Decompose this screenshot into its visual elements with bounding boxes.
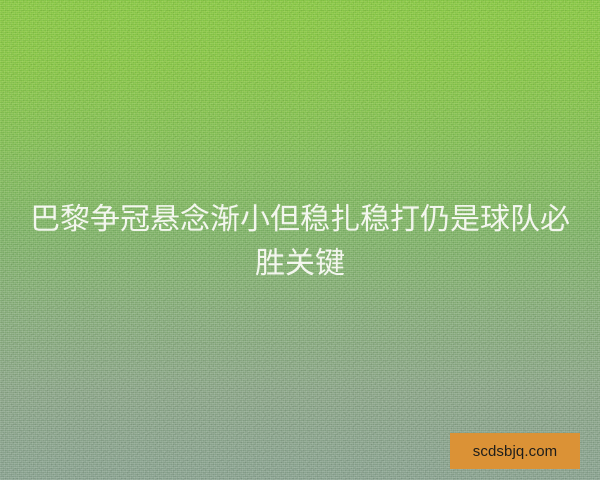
banner-image: 巴黎争冠悬念渐小但稳扎稳打仍是球队必胜关键 scdsbjq.com [0, 0, 600, 480]
watermark-badge: scdsbjq.com [450, 433, 580, 469]
headline-text: 巴黎争冠悬念渐小但稳扎稳打仍是球队必胜关键 [30, 198, 570, 286]
watermark-url-label: scdsbjq.com [473, 444, 557, 459]
